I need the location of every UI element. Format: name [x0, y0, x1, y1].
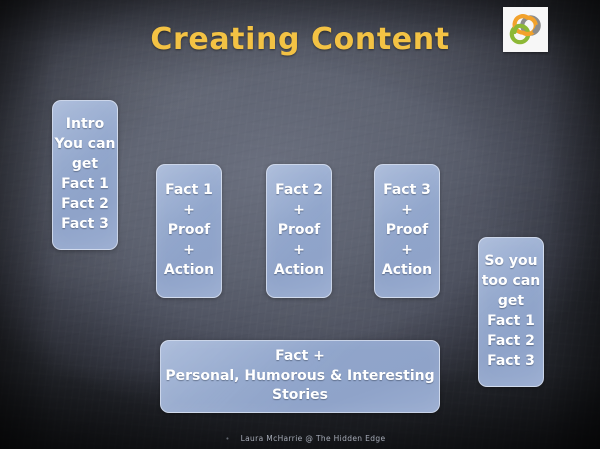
footer-credit: Laura McHarrie @ The Hidden Edge — [241, 434, 386, 443]
fact-3-box-line: Proof — [386, 221, 429, 241]
fact-2-box[interactable]: Fact 2 + Proof + Action — [266, 164, 332, 298]
outro-box[interactable]: So you too can get Fact 1 Fact 2 Fact 3 — [478, 237, 544, 387]
fact-3-box-line: + — [401, 201, 413, 221]
intro-box[interactable]: Intro You can get Fact 1 Fact 2 Fact 3 — [52, 100, 118, 250]
intro-box-line: Fact 3 — [61, 215, 109, 235]
fact-2-box-line: Action — [274, 261, 324, 281]
fact-1-box-line: Proof — [168, 221, 211, 241]
intro-box-line: Intro — [66, 115, 104, 135]
fact-2-box-line: + — [293, 201, 305, 221]
outro-box-line: Fact 3 — [487, 352, 535, 372]
outro-box-line: Fact 1 — [487, 312, 535, 332]
intro-box-line: You can — [54, 135, 115, 155]
stories-box-line: Stories — [272, 386, 328, 406]
fact-1-box-line: Action — [164, 261, 214, 281]
intro-box-line: get — [72, 155, 98, 175]
fact-2-box-line: Fact 2 — [275, 181, 323, 201]
the-hidden-edge-logo — [503, 7, 548, 52]
slide-canvas: Creating Content Intro You can get Fact … — [0, 0, 600, 449]
fact-3-box-line: Action — [382, 261, 432, 281]
fact-1-box[interactable]: Fact 1 + Proof + Action — [156, 164, 222, 298]
fact-1-box-line: + — [183, 241, 195, 261]
outro-box-line: Fact 2 — [487, 332, 535, 352]
fact-2-box-line: + — [293, 241, 305, 261]
fact-1-box-line: Fact 1 — [165, 181, 213, 201]
stories-box-line: Fact + — [275, 347, 325, 367]
footer-marker: • — [215, 435, 241, 443]
intro-box-line: Fact 1 — [61, 175, 109, 195]
stories-box-line: Personal, Humorous & Interesting — [165, 367, 434, 387]
stories-box[interactable]: Fact + Personal, Humorous & Interesting … — [160, 340, 440, 413]
slide-footer: •Laura McHarrie @ The Hidden Edge — [0, 434, 600, 443]
outro-box-line: get — [498, 292, 524, 312]
outro-box-line: too can — [482, 272, 541, 292]
fact-3-box[interactable]: Fact 3 + Proof + Action — [374, 164, 440, 298]
fact-2-box-line: Proof — [278, 221, 321, 241]
fact-3-box-line: Fact 3 — [383, 181, 431, 201]
intro-box-line: Fact 2 — [61, 195, 109, 215]
fact-1-box-line: + — [183, 201, 195, 221]
outro-box-line: So you — [484, 252, 537, 272]
fact-3-box-line: + — [401, 241, 413, 261]
interlocking-rings-icon — [503, 7, 548, 52]
